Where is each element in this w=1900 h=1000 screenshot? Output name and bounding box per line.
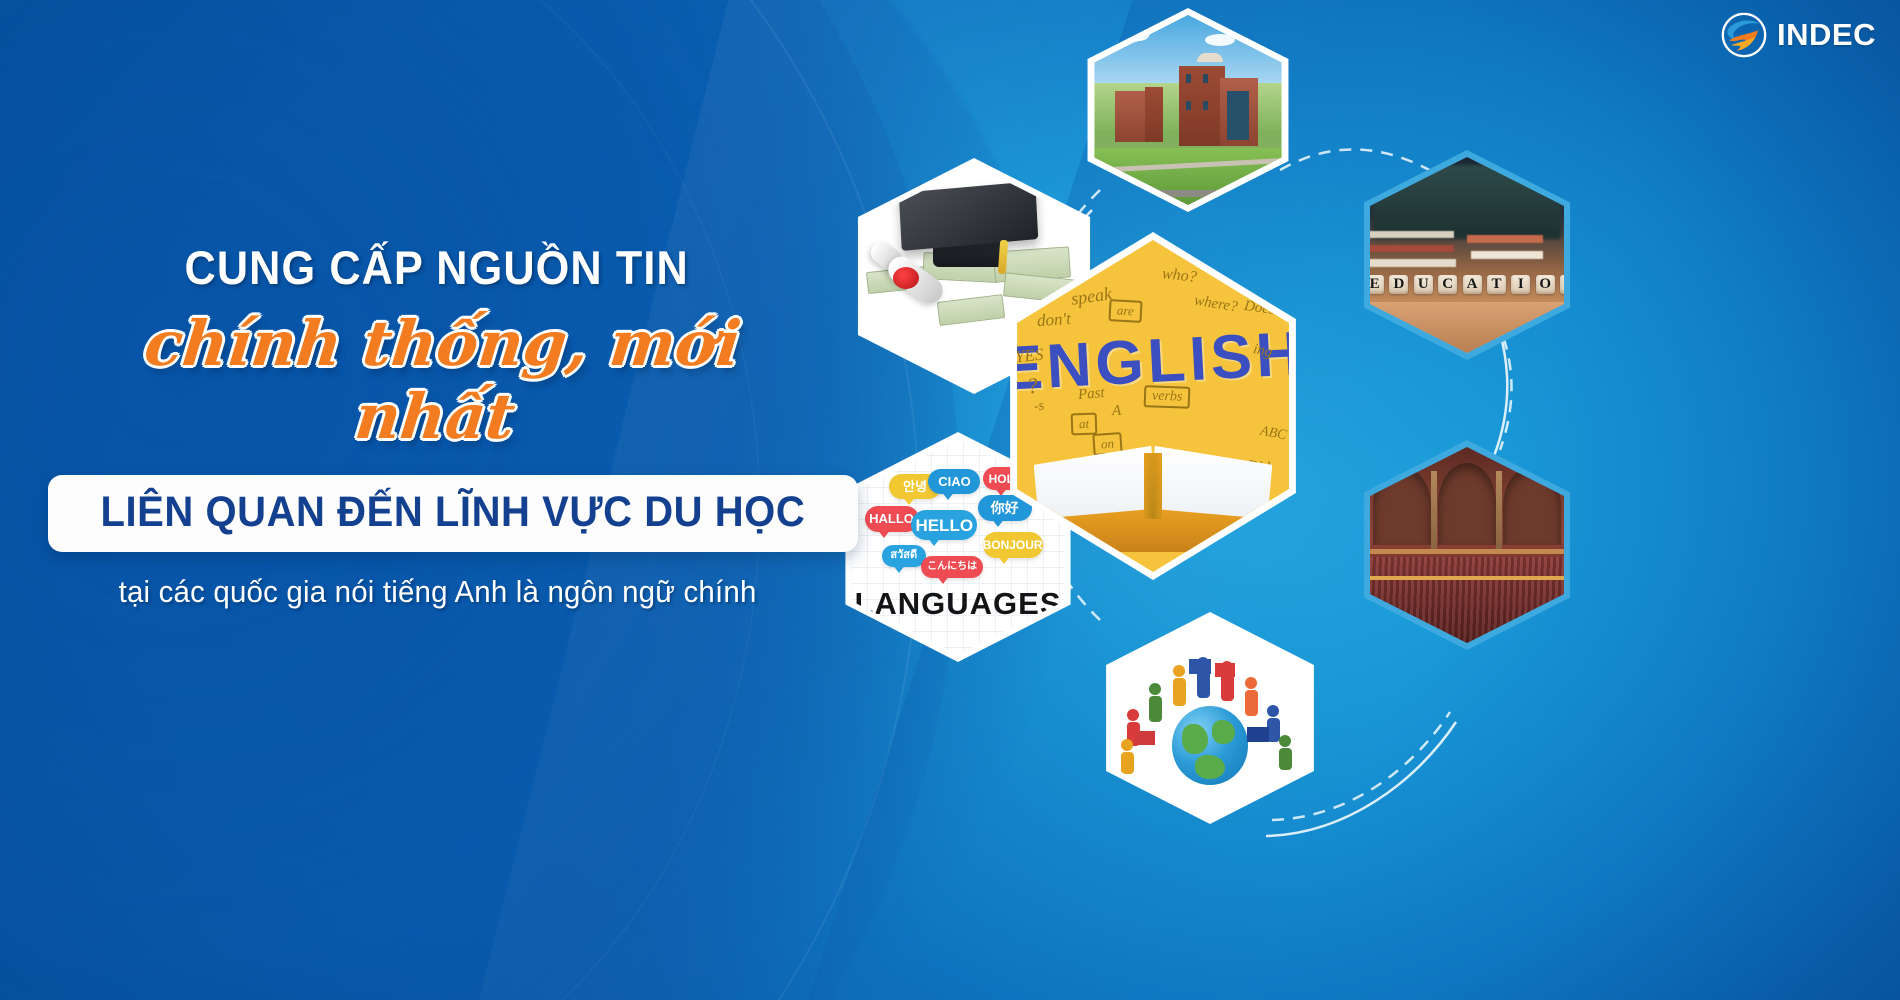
headline-line-1: CUNG CẤP NGUỒN TIN [33,240,787,295]
language-bubble-text: สวัสดี [890,550,917,561]
education-letter-cube: I [1511,275,1530,294]
english-doodle: ABC [1259,424,1288,444]
window [1186,74,1191,83]
english-doodle: verbs [1143,385,1190,409]
english-doodle: ing [1252,341,1274,362]
education-letter-cube: T [1487,275,1506,294]
english-doodle: YES [1014,345,1044,368]
language-bubble: こんにちは [921,556,983,578]
arch [1438,463,1496,545]
building-mid [1145,87,1163,142]
english-doodle: where? [1193,293,1239,317]
language-bubble-text: BONJOUR [983,539,1043,551]
education-letter-cube: D [1389,275,1408,294]
red-ribbon [893,267,919,289]
education-letter-cube: O [1536,275,1555,294]
language-bubble-text: 안녕 [903,480,927,493]
language-bubble: สวัสดี [882,545,926,567]
education-letter-cube: C [1438,275,1457,294]
english-doodle: speak [1070,284,1114,310]
headline-line-2: chính thống, mới nhất [0,307,828,453]
language-bubble-text: こんにちは [927,562,977,572]
brand-name: INDEC [1777,17,1876,53]
education-letter-cube: A [1463,275,1482,294]
book-page-right [1150,446,1272,519]
banner-root: INDEC CUNG CẤP NGUỒN TIN chính thống, mớ… [0,0,1900,1000]
window [1203,101,1208,110]
balcony-rail [1355,549,1579,554]
headline-block: CUNG CẤP NGUỒN TIN chính thống, mới nhất… [0,240,820,610]
building-left [1115,91,1147,142]
english-doodle: don't [1036,309,1071,331]
language-bubble: HELLO [911,510,977,540]
headline-line-3-box: LIÊN QUAN ĐẾN LĨNH VỰC DU HỌC [48,475,858,552]
english-doodle: A [1112,402,1122,419]
window [1186,101,1191,110]
banknote [937,294,1006,326]
english-doodle: -s [1033,399,1045,416]
education-letter-cube: E [1365,275,1384,294]
language-bubble-text: HELLO [915,517,973,534]
building-cupola [1197,53,1223,62]
indec-logo[interactable]: INDEC [1721,12,1876,58]
book-stack [1467,235,1543,243]
book-stack [1368,245,1453,252]
language-bubble-text: HALLO [869,512,914,525]
book-page-left [1034,446,1156,519]
languages-label: LANGUAGES [835,586,1081,622]
headline-line-3: LIÊN QUAN ĐẾN LĨNH VỰC DU HỌC [101,488,806,537]
english-doodle: at [1071,412,1098,435]
book-stack [1362,259,1456,267]
globe-swoosh-icon [1721,12,1767,58]
language-bubble: BONJOUR [983,532,1043,558]
english-doodle: Past [1077,385,1105,404]
headline-line-4: tại các quốc gia nói tiếng Anh là ngôn n… [21,574,800,610]
book-stack [1364,231,1454,238]
language-bubble-text: 你好 [991,501,1019,515]
column [1496,471,1502,549]
english-doodle: who? [1162,265,1198,287]
book-gutter [1144,453,1163,519]
english-doodle: are [1108,299,1142,323]
graduation-cap-board [899,181,1039,251]
stage-edge [1355,576,1579,580]
language-bubble-text: CIAO [938,475,971,488]
language-bubble: CIAO [928,469,980,494]
window [1203,74,1208,83]
column [1431,471,1437,549]
education-letter-cube: U [1414,275,1433,294]
hexagon-cluster: EDUCATION [800,0,1900,1000]
book-stack [1471,251,1543,259]
window-glass [1227,91,1249,140]
